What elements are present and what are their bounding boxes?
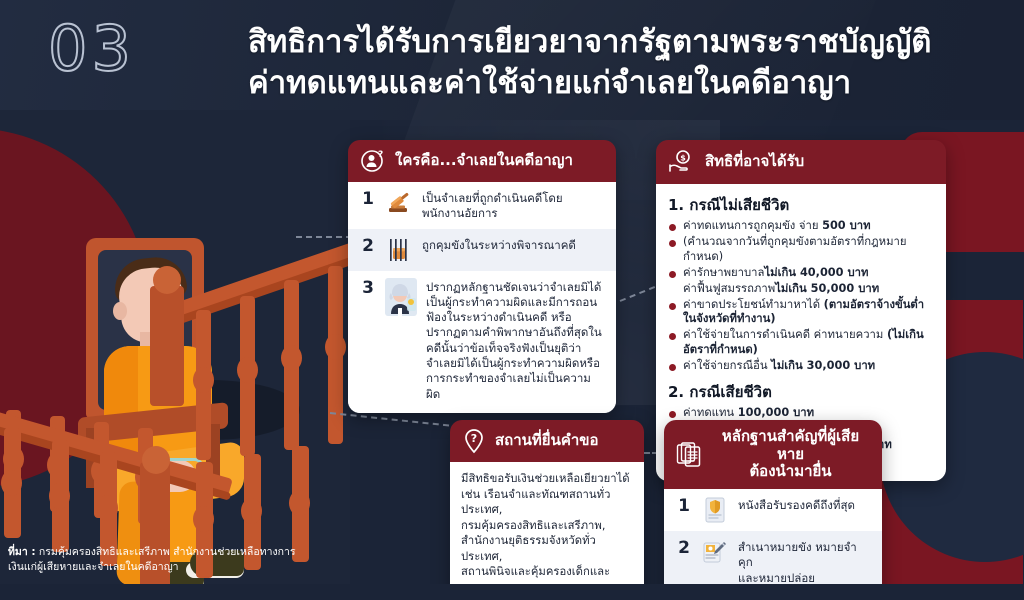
benefit-item: ค่าฟื้นฟูสมรรถภาพไม่เกิน 50,000 บาท: [668, 282, 934, 297]
card-defendant-header: ? ใครคือ...จำเลยในคดีอาญา: [348, 140, 616, 182]
card-evidence: หลักฐานสำคัญที่ผู้เสียหาย ต้องนำมายื่น 1: [664, 420, 882, 600]
section-number-badge: 03: [48, 18, 135, 80]
item-number: 1: [360, 189, 376, 210]
baluster-r2: [240, 296, 255, 456]
list-item: 1 หนังสือรับรองคดีถึงที่สุด: [664, 489, 882, 531]
card-evidence-title-line1: หลักฐานสำคัญที่ผู้เสียหาย: [711, 428, 870, 463]
card-evidence-header: หลักฐานสำคัญที่ผู้เสียหาย ต้องนำมายื่น: [664, 420, 882, 489]
page-title-line2: ค่าทดแทนและค่าใช้จ่ายแก่จำเลยในคดีอาญา: [248, 63, 993, 104]
benefits-section-title: 2. กรณีเสียชีวิต: [668, 380, 934, 404]
list-item: 2 ถูกคุมขังในระหว่างพิจารณาคดี: [348, 229, 616, 271]
certificate-icon: [701, 496, 729, 524]
list-item: 3 ปรากฏหลักฐานชัดเจนว่าจำเลยมิได้เป็นผู้…: [348, 271, 616, 413]
place-body-text: มีสิทธิขอรับเงินช่วยเหลือเยียวยาได้ เช่น…: [461, 471, 633, 600]
railing-newel-post: [150, 286, 184, 406]
baluster-r3: [284, 280, 299, 450]
location-question-icon: ?: [462, 428, 486, 454]
card-place: ? สถานที่ยื่นคำขอ มีสิทธิขอรับเงินช่วยเห…: [450, 420, 644, 600]
item-text: หนังสือรับรองคดีถึงที่สุด: [738, 496, 855, 513]
railing-front-post-ball: [142, 446, 170, 474]
railing-post-ball: [153, 266, 181, 294]
item-number: 2: [676, 538, 692, 559]
item-text: สำเนาหมายขัง หมายจำคุก และหมายปล่อย: [738, 538, 870, 586]
card-defendant-title: ใครคือ...จำเลยในคดีอาญา: [395, 152, 573, 170]
item-number: 2: [360, 236, 376, 257]
place-line: เช่น เรือนจำและทัณฑสถานทั่วประเทศ,: [461, 487, 633, 518]
person-question-icon: ?: [360, 148, 386, 174]
svg-text:$: $: [680, 154, 686, 163]
benefit-item: ค่าทดแทน 100,000 บาท: [668, 406, 934, 421]
gavel-icon: [385, 189, 413, 217]
card-benefits-title: สิทธิที่อาจได้รับ: [705, 153, 804, 171]
card-place-header: ? สถานที่ยื่นคำขอ: [450, 420, 644, 462]
source-text: กรมคุ้มครองสิทธิและเสรีภาพ สำนักงานช่วยเ…: [8, 546, 296, 573]
source-label: ที่มา :: [8, 546, 36, 558]
documents-icon: [676, 441, 702, 469]
place-line: สำนักงานยุติธรรมจังหวัดทั่วประเทศ,: [461, 533, 633, 564]
prisoner-illustration: [0, 110, 352, 600]
hand-coin-icon: $: [668, 148, 696, 176]
svg-text:?: ?: [378, 150, 383, 160]
source-credit: ที่มา : กรมคุ้มครองสิทธิและเสรีภาพ สำนัก…: [8, 545, 308, 575]
list-item: 1 เป็นจำเลยที่ถูกดำเนินคดีโดยพนักงานอัยก…: [348, 182, 616, 229]
benefit-item: ค่าทดแทนการถูกคุมขัง จ่าย 500 บาท: [668, 219, 934, 234]
baluster-r1: [196, 310, 211, 460]
benefit-item: ค่ารักษาพยาบาลไม่เกิน 40,000 บาท: [668, 266, 934, 281]
item-text: ถูกคุมขังในระหว่างพิจารณาคดี: [422, 236, 576, 253]
judge-icon: [385, 278, 417, 316]
baluster-f1: [4, 428, 21, 538]
page-title-line1: สิทธิการได้รับการเยียวยาจากรัฐตามพระราชบ…: [248, 24, 931, 60]
baluster-r4: [328, 266, 343, 444]
benefit-item: ค่าใช้จ่ายในการดำเนินคดี ค่าทนายความ (ไม…: [668, 328, 934, 358]
item-text: เป็นจำเลยที่ถูกดำเนินคดีโดยพนักงานอัยการ: [422, 189, 604, 222]
benefit-item: ค่าใช้จ่ายกรณีอื่น ไม่เกิน 30,000 บาท: [668, 359, 934, 374]
card-evidence-title: หลักฐานสำคัญที่ผู้เสียหาย ต้องนำมายื่น: [711, 428, 870, 481]
benefit-item: ค่าขาดประโยชน์ทำมาหาได้ (ตามอัตราจ้างขั้…: [668, 298, 934, 328]
item-text: ปรากฏหลักฐานชัดเจนว่าจำเลยมิได้เป็นผู้กร…: [426, 278, 604, 402]
item-number: 1: [676, 496, 692, 517]
card-defendant-body: 1 เป็นจำเลยที่ถูกดำเนินคดีโดยพนักงานอัยก…: [348, 182, 616, 413]
page-title: สิทธิการได้รับการเยียวยาจากรัฐตามพระราชบ…: [248, 22, 993, 104]
card-evidence-title-line2: ต้องนำมายื่น: [711, 463, 870, 481]
benefits-section-title: 1. กรณีไม่เสียชีวิต: [668, 193, 934, 217]
footer-bar: [0, 584, 1024, 600]
card-place-title: สถานที่ยื่นคำขอ: [495, 432, 599, 450]
card-benefits-header: $ สิทธิที่อาจได้รับ: [656, 140, 946, 184]
prison-bars-icon: [385, 236, 413, 264]
card-place-body: มีสิทธิขอรับเงินช่วยเหลือเยียวยาได้ เช่น…: [450, 462, 644, 600]
svg-text:?: ?: [471, 432, 477, 445]
person-ear: [113, 302, 127, 320]
place-line: มีสิทธิขอรับเงินช่วยเหลือเยียวยาได้: [461, 471, 633, 487]
benefit-item: (คำนวณจากวันที่ถูกคุมขังตามอัตราที่กฎหมา…: [668, 235, 934, 265]
item-number: 3: [360, 278, 376, 299]
infographic-canvas: 03 สิทธิการได้รับการเยียวยาจากรัฐตามพระร…: [0, 0, 1024, 600]
baluster-f2: [52, 440, 69, 552]
place-line: กรมคุ้มครองสิทธิและเสรีภาพ,: [461, 518, 633, 534]
document-pen-icon: [701, 538, 729, 566]
card-defendant: ? ใครคือ...จำเลยในคดีอาญา 1: [348, 140, 616, 413]
benefits-list-alive: ค่าทดแทนการถูกคุมขัง จ่าย 500 บาท (คำนวณ…: [668, 219, 934, 374]
